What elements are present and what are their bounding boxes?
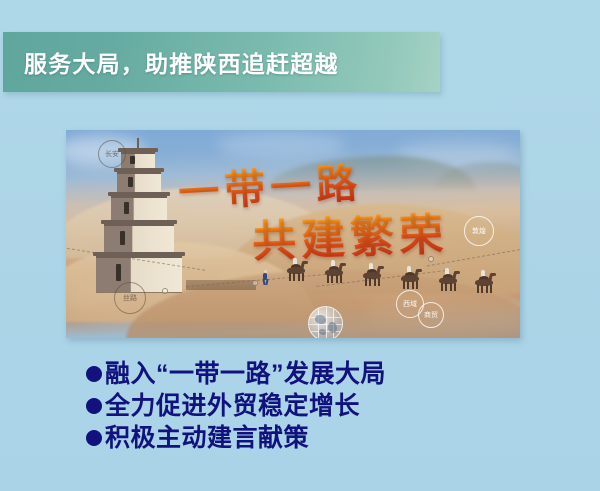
- list-item: 积极主动建言献策: [86, 422, 526, 454]
- bullet-text-1: 融入“一带一路”发展大局: [105, 359, 386, 389]
- calligraphy-line-2: 共建繁荣: [251, 198, 449, 269]
- bullet-text-2: 全力促进外贸稳定增长: [105, 391, 360, 421]
- camel-icon: [472, 274, 498, 293]
- bullet-dot-icon: [86, 430, 102, 446]
- slide-root: 服务大局，助推陕西追赶超越: [0, 0, 600, 491]
- seal-text: 西域: [403, 300, 417, 308]
- seal-text: 长安: [105, 150, 119, 158]
- bullet-dot-icon: [86, 366, 102, 382]
- image-canvas: 一带一路 共建繁荣: [66, 130, 520, 338]
- page-title: 服务大局，助推陕西追赶超越: [24, 45, 339, 79]
- bullet-dot-icon: [86, 398, 102, 414]
- seal-stamp: 商贸: [418, 302, 444, 328]
- route-node: [428, 256, 434, 262]
- camel-icon: [284, 262, 310, 281]
- seal-text: 商贸: [424, 311, 438, 319]
- seal-text: 丝路: [123, 294, 137, 302]
- route-node: [162, 288, 168, 294]
- globe-icon: [308, 306, 343, 338]
- route-node: [252, 280, 258, 286]
- bullet-text-3: 积极主动建言献策: [105, 423, 309, 453]
- seal-stamp: 长安: [98, 140, 126, 168]
- list-item: 融入“一带一路”发展大局: [86, 358, 526, 390]
- pagoda-icon: [88, 144, 188, 294]
- title-banner: 服务大局，助推陕西追赶超越: [3, 32, 440, 92]
- seal-stamp: 敦煌: [464, 216, 494, 246]
- traveler-figure: [262, 270, 269, 284]
- bullet-list: 融入“一带一路”发展大局 全力促进外贸稳定增长 积极主动建言献策: [86, 358, 526, 454]
- camel-icon: [436, 272, 462, 291]
- belt-and-road-image: 一带一路 共建繁荣: [66, 130, 520, 338]
- camel-icon: [322, 264, 348, 283]
- list-item: 全力促进外贸稳定增长: [86, 390, 526, 422]
- seal-stamp: 丝路: [114, 282, 146, 314]
- seal-text: 敦煌: [472, 227, 486, 235]
- camel-icon: [360, 267, 386, 286]
- camel-icon: [398, 270, 424, 289]
